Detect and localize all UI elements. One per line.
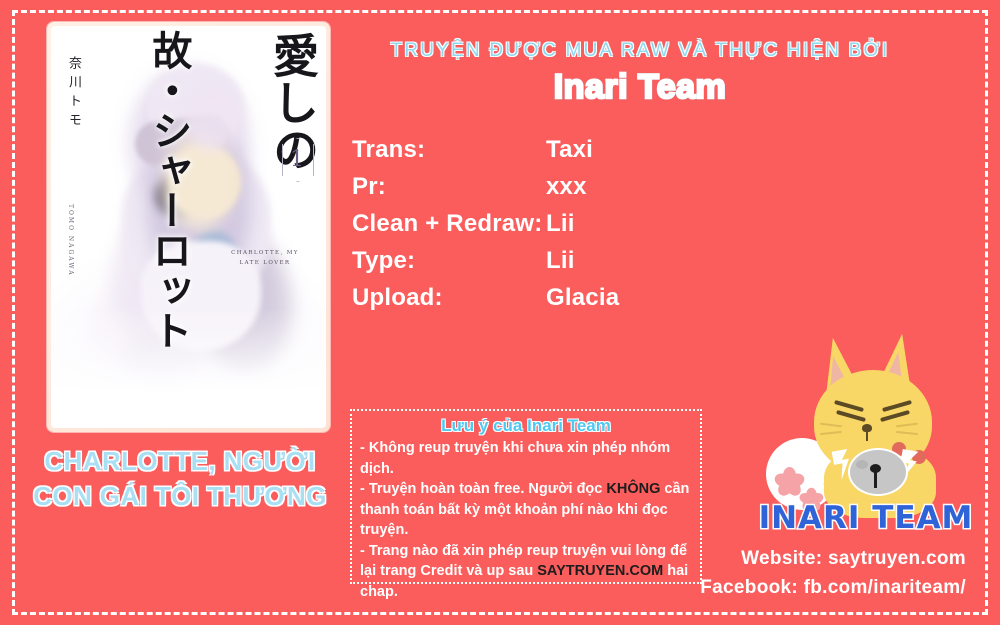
series-title-line1: CHARLOTTE, NGƯỜI <box>10 444 350 479</box>
credit-name: Glacia <box>546 284 712 312</box>
contact-info: Website: saytruyen.com Facebook: fb.com/… <box>666 545 966 602</box>
header-subtitle: TRUYỆN ĐƯỢC MUA RAW VÀ THỰC HIỆN BỞI <box>340 40 940 62</box>
fox-mask-eye <box>856 460 868 469</box>
note-item-3: - Trang nào đã xin phép reup truyện vui … <box>360 541 692 603</box>
credit-row: Pr: xxx <box>352 173 712 201</box>
facebook-line[interactable]: Facebook: fb.com/inariteam/ <box>666 574 966 603</box>
credit-role: Clean + Redraw: <box>352 210 546 238</box>
credit-role: Trans: <box>352 136 546 164</box>
credit-role: Upload: <box>352 284 546 312</box>
fox-mascot-icon <box>800 338 996 518</box>
fox-muzzle-line <box>866 431 868 441</box>
series-title: CHARLOTTE, NGƯỜI CON GÁI TÔI THƯƠNG <box>10 444 350 513</box>
credit-name: xxx <box>546 173 712 201</box>
inari-team-logo-text: INARI TEAM <box>756 500 976 536</box>
cover-author-romaji: TOMO NAGAWA <box>67 204 74 277</box>
volume-number: 1 <box>276 130 318 188</box>
credit-name: Lii <box>546 210 712 238</box>
note-item-2: - Truyện hoàn toàn free. Người đọc KHÔNG… <box>360 479 692 541</box>
note-item-2-pre: - Truyện hoàn toàn free. Người đọc <box>360 481 606 497</box>
notes-title: Lưu ý của Inari Team <box>360 416 692 436</box>
credit-name: Lii <box>546 247 712 275</box>
credits-list: Trans: Taxi Pr: xxx Clean + Redraw: Lii … <box>352 136 712 321</box>
credit-role: Pr: <box>352 173 546 201</box>
note-item-2-emphasis: KHÔNG <box>606 481 660 497</box>
cover-author-name: 奈川トモ <box>64 56 83 132</box>
credit-row: Type: Lii <box>352 247 712 275</box>
credit-name: Taxi <box>546 136 712 164</box>
notes-body: - Không reup truyện khi chưa xin phép nh… <box>360 438 692 603</box>
notes-box: Lưu ý của Inari Team - Không reup truyện… <box>350 409 702 584</box>
cover-romaji-subtitle: CHARLOTTE, MY LATE LOVER <box>222 248 308 269</box>
note-item-3-emphasis: SAYTRUYEN.COM <box>537 563 663 579</box>
book-cover[interactable]: 愛しの 故・シャーロット 奈川トモ TOMO NAGAWA CHARLOTTE,… <box>47 22 330 432</box>
series-title-line2: CON GÁI TÔI THƯƠNG <box>10 479 350 514</box>
cover-japanese-subtitle: 故・シャーロット <box>147 30 189 350</box>
credit-row: Clean + Redraw: Lii <box>352 210 712 238</box>
fox-mask-line <box>874 472 877 488</box>
credit-role: Type: <box>352 247 546 275</box>
header-team-name: Inari Team <box>340 68 940 107</box>
credit-page: 愛しの 故・シャーロット 奈川トモ TOMO NAGAWA CHARLOTTE,… <box>0 0 1000 625</box>
website-line[interactable]: Website: saytruyen.com <box>666 545 966 574</box>
credit-row: Trans: Taxi <box>352 136 712 164</box>
volume-badge: 1 <box>276 130 318 188</box>
book-cover-image: 愛しの 故・シャーロット 奈川トモ TOMO NAGAWA CHARLOTTE,… <box>51 26 326 428</box>
note-item-1: - Không reup truyện khi chưa xin phép nh… <box>360 438 692 479</box>
credit-row: Upload: Glacia <box>352 284 712 312</box>
